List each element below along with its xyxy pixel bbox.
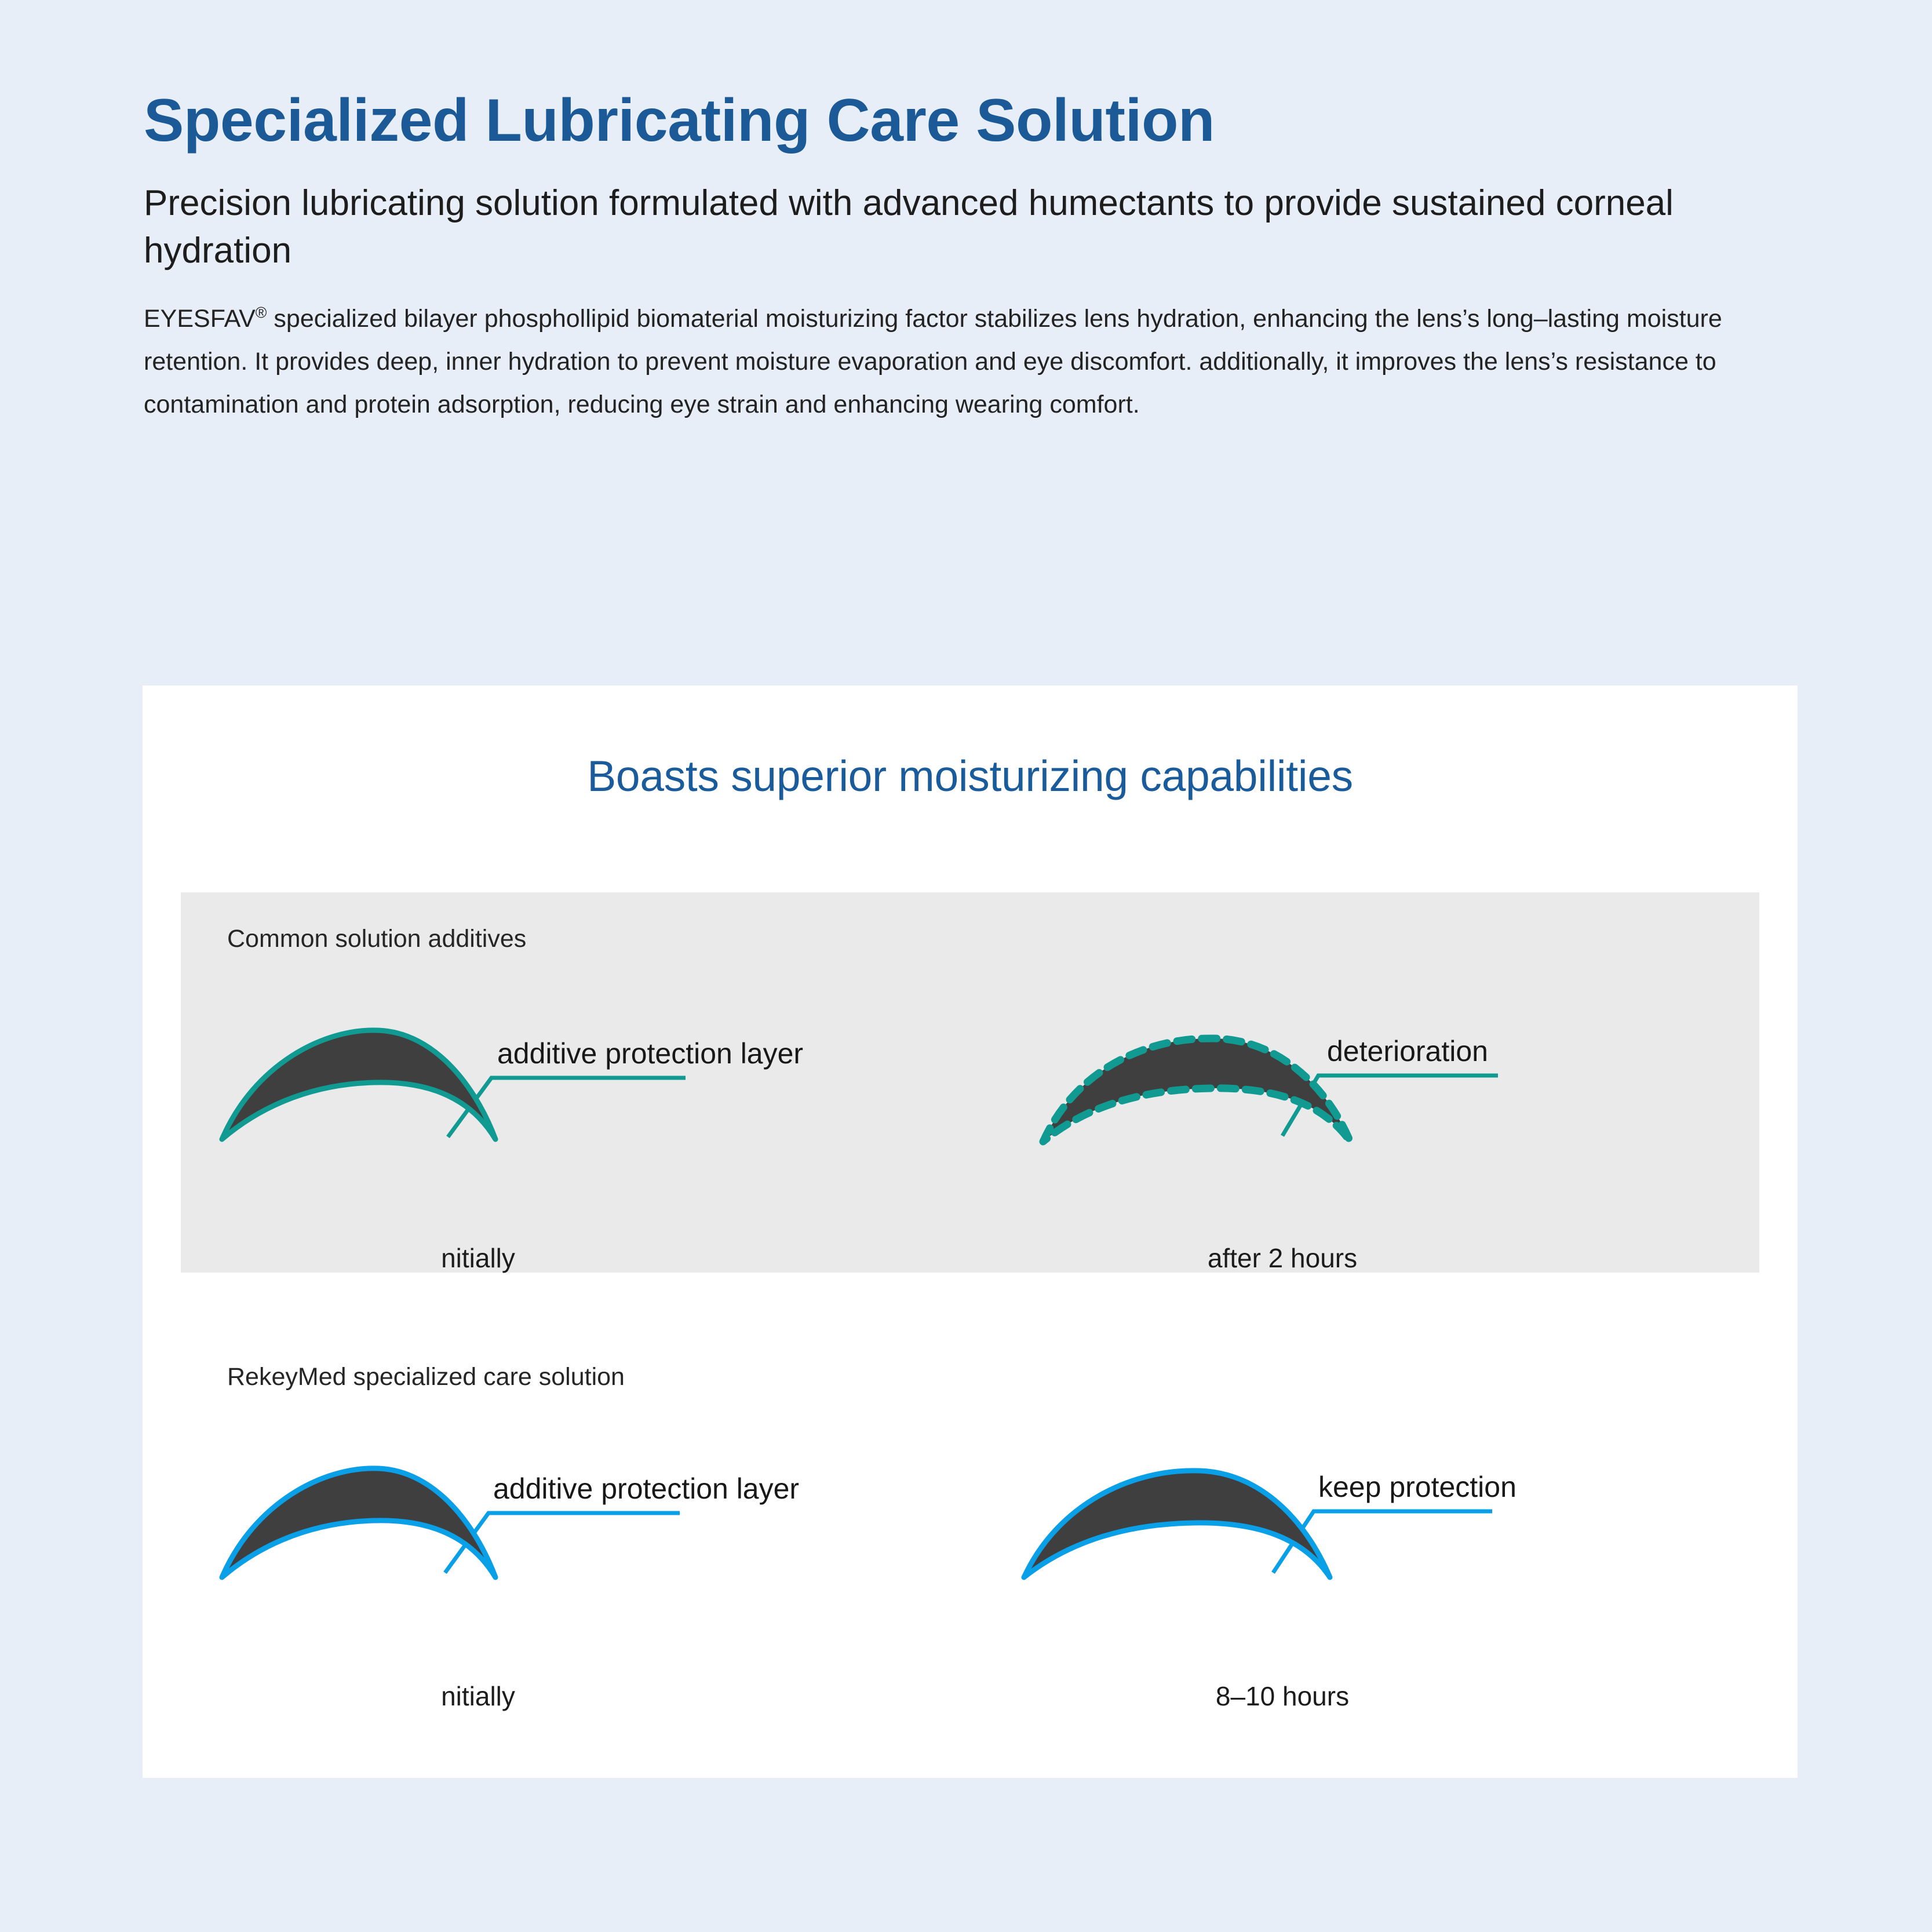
row-common-solution-additives: Common solution additives additive prote… <box>181 892 1759 1273</box>
time-label-rekey-initial: nitially <box>83 1681 873 1712</box>
time-label-after-2-hours: after 2 hours <box>888 1242 1677 1274</box>
time-label-common-initial: nitially <box>83 1242 873 1274</box>
panes-rekeymed: additive protection layer nitially keep … <box>181 1406 1759 1707</box>
pane-rekey-initial: additive protection layer nitially <box>181 1406 970 1707</box>
callout-label-common-initial: additive protection layer <box>497 1037 803 1070</box>
infographic-page: Specialized Lubricating Care Solution Pr… <box>0 0 1932 1932</box>
row-label-rekeymed: RekeyMed specialized care solution <box>227 1363 625 1391</box>
registered-mark-icon: ® <box>256 304 267 322</box>
lens-diagram-common-deteriorated: deterioration <box>988 968 1741 1223</box>
header-block: Specialized Lubricating Care Solution Pr… <box>144 87 1807 427</box>
lens-cross-section-icon <box>1024 1471 1330 1577</box>
body-copy: specialized bilayer phosphollipid biomat… <box>144 305 1722 418</box>
row-label-common: Common solution additives <box>227 925 526 953</box>
pane-rekey-8-10-hours: keep protection 8–10 hours <box>970 1406 1759 1707</box>
page-subtitle: Precision lubricating solution formulate… <box>144 180 1807 275</box>
lens-diagram-rekey-protected: keep protection <box>988 1406 1741 1661</box>
callout-label-deterioration: deterioration <box>1327 1035 1488 1067</box>
callout-label-rekey-initial: additive protection layer <box>493 1472 799 1505</box>
comparison-card: Boasts superior moisturizing capabilitie… <box>143 686 1798 1778</box>
page-body-paragraph: EYESFAV® specialized bilayer phosphollip… <box>144 298 1807 427</box>
page-title: Specialized Lubricating Care Solution <box>144 87 1807 154</box>
pane-common-initial: additive protection layer nitially <box>181 968 970 1269</box>
lens-diagram-rekey-initial: additive protection layer <box>199 1406 952 1661</box>
panes-common: additive protection layer nitially deter… <box>181 968 1759 1269</box>
callout-label-keep-protection: keep protection <box>1318 1471 1517 1503</box>
lens-cross-section-icon <box>1043 1038 1350 1142</box>
lens-diagram-common-initial: additive protection layer <box>199 968 952 1223</box>
row-rekeymed-care-solution: RekeyMed specialized care solution addit… <box>181 1330 1759 1730</box>
card-title: Boasts superior moisturizing capabilitie… <box>143 751 1798 801</box>
brand-name: EYESFAV <box>144 305 256 333</box>
lens-cross-section-icon <box>222 1030 495 1139</box>
pane-common-after-2-hours: deterioration after 2 hours <box>970 968 1759 1269</box>
time-label-8-10-hours: 8–10 hours <box>888 1681 1677 1712</box>
